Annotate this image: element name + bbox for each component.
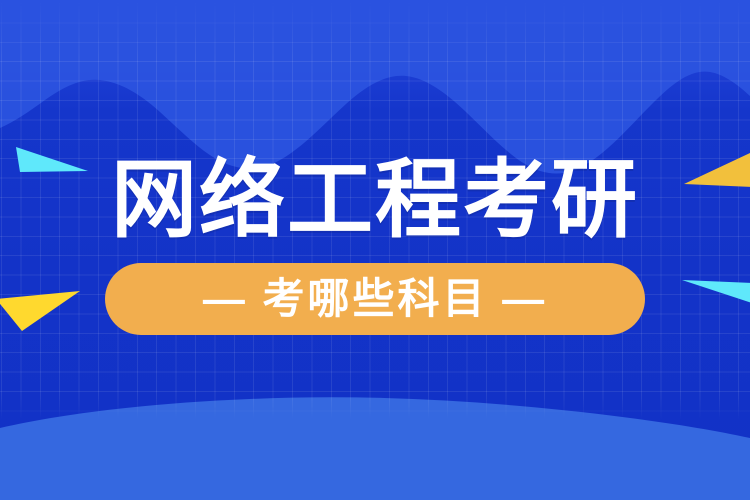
- yellow-triangle-bottom-left-icon: [0, 291, 80, 331]
- banner-graphic: 网络工程考研 — 考哪些科目 —: [0, 0, 750, 500]
- page-title: 网络工程考研: [111, 152, 639, 248]
- triangle-decoration-layer: [0, 0, 750, 500]
- subtitle-text: — 考哪些科目 —: [203, 275, 547, 323]
- subtitle-pill[interactable]: — 考哪些科目 —: [105, 263, 645, 335]
- title-container: 网络工程考研: [0, 152, 750, 248]
- cyan-triangle-bottom-right-icon: [682, 280, 750, 303]
